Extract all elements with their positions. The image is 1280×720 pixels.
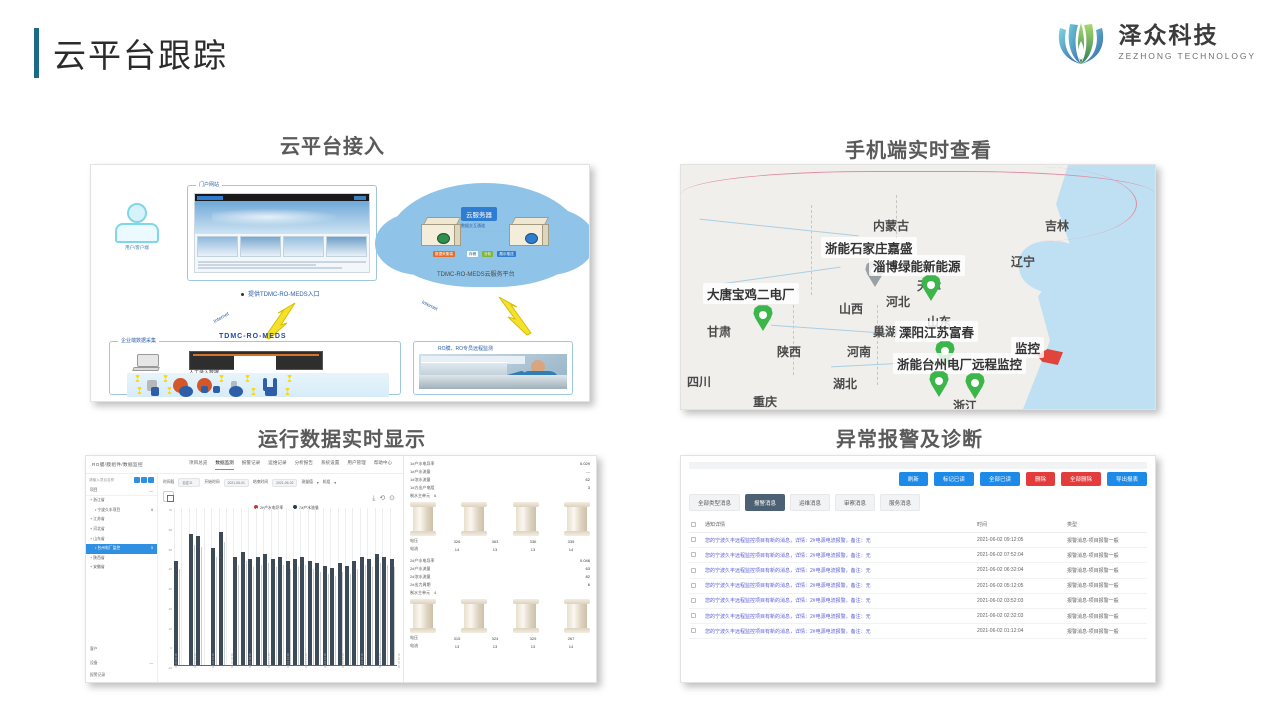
panel-title-cloud-access: 云平台接入 — [280, 130, 385, 159]
metric-values-row: 电流14131314 — [410, 546, 590, 552]
alarm-detail[interactable]: 您的宁波久丰远程监控项目有新的消息，详情：2#电源电流报警，备注：无 — [703, 578, 975, 593]
chart-data-spike — [330, 568, 334, 665]
chart-data-spike — [315, 563, 319, 665]
row-checkbox[interactable] — [689, 578, 703, 593]
alarm-type-tabs[interactable]: 全部类型消息报警消息运维消息审察消息服务消息 — [689, 494, 1147, 511]
dashboard-nav-item[interactable]: 帮助中心 — [374, 460, 392, 469]
chart-data-spike — [271, 559, 275, 665]
x-tick-label: 06-01 22:00 — [378, 653, 382, 668]
metric-cell: 13 — [476, 644, 514, 649]
row-checkbox[interactable] — [689, 624, 703, 639]
website-screenshot-box: 门户网站 — [187, 185, 377, 281]
membrane-spool-icon — [513, 599, 539, 633]
sidebar-foot-device[interactable]: 设备 — — [90, 661, 153, 666]
project-tree-label: • 台州电厂监控 — [95, 546, 120, 550]
dashboard-brand: RO膜/膜组件/数据监控 — [92, 462, 143, 468]
map-province-label: 内蒙古 — [873, 217, 909, 234]
filter-label: 测量值 — [301, 480, 312, 485]
chart-data-spike — [375, 554, 379, 665]
dashboard-nav-item[interactable]: 项目总览 — [189, 460, 207, 469]
portal-entry-text: 提供TDMC-RO-MEDS入口 — [248, 292, 320, 298]
filter-value[interactable]: 2021-06-02 — [272, 479, 297, 487]
tree-collapse-icon[interactable]: — — [149, 489, 153, 493]
unit-label: 制水主单元4 — [410, 590, 590, 596]
metric-key: 2#产水流量 — [410, 566, 430, 572]
sidebar-foot-alarm[interactable]: 报警记录 — [90, 673, 105, 678]
filter-value[interactable]: 自定义 — [178, 478, 200, 487]
metric-row: 2#产水电导率0.046 — [410, 558, 590, 564]
dashboard-nav[interactable]: 项目总览数据监测报警记录运维记录分析报告系统设置用户管理帮助中心 — [189, 460, 392, 470]
metric-values-label: 电压 — [410, 635, 438, 641]
x-tick-label: 06-01 20:00 — [360, 653, 364, 668]
chart-data-spike — [286, 561, 290, 665]
alarm-type: 报警消息-项目报警一般 — [1065, 624, 1147, 639]
alarm-time: 2021-06-02 02:32:03 — [975, 608, 1065, 623]
alarm-type: 报警消息-项目报警一般 — [1065, 533, 1147, 548]
map-pin-icon[interactable] — [929, 371, 949, 397]
membrane-spool-icon — [513, 502, 539, 536]
title-accent-bar — [34, 28, 39, 78]
project-tree-item[interactable]: + 河北省 — [86, 525, 157, 535]
tree-header: 项目 — — [86, 486, 157, 496]
alarm-type: 报警消息-项目报警一般 — [1065, 548, 1147, 563]
map-province-label: 四川 — [687, 373, 711, 390]
alarm-detail[interactable]: 您的宁波久丰远程监控项目有新的消息，详情：2#电源电流报警，备注：无 — [703, 563, 975, 578]
metric-row: 2#产水流量63 — [410, 566, 590, 572]
alarm-tab[interactable]: 运维消息 — [790, 494, 830, 511]
search-input[interactable]: 请输入项目名称 — [89, 478, 133, 483]
project-tree-item[interactable]: • 宁波久丰项目8 — [86, 506, 157, 516]
chart-data-spike — [278, 557, 282, 665]
realtime-dashboard: RO膜/膜组件/数据监控 项目总览数据监测报警记录运维记录分析报告系统设置用户管… — [85, 455, 597, 683]
metric-cell: 363 — [476, 539, 514, 544]
alarm-table: 通知详情时间类型 您的宁波久丰远程监控项目有新的消息，详情：2#电源电流报警，备… — [689, 517, 1147, 639]
map-province-label: 重庆 — [753, 393, 777, 409]
alarm-tab[interactable]: 审察消息 — [835, 494, 875, 511]
alarm-time: 2021-06-02 05:12:05 — [975, 578, 1065, 593]
chart-data-spike-light — [350, 574, 351, 665]
person-label: 用户/客户端 — [113, 245, 161, 251]
table-row[interactable]: 您的宁波久丰远程监控项目有新的消息，详情：2#电源电流报警，备注：无2021-0… — [689, 593, 1147, 608]
chart-data-spike-light — [387, 565, 388, 665]
x-tick-label: 06-01 14:00 — [304, 653, 308, 668]
metric-row: 1#产水电导率0.029 — [410, 461, 590, 467]
server-icon-left — [421, 217, 461, 247]
map-site-label[interactable]: 监控 — [1011, 337, 1044, 358]
filter-label: 开始时间 — [204, 480, 219, 485]
panel-title-realtime-data: 运行数据实时显示 — [258, 423, 426, 452]
alarm-type: 报警消息-项目报警一般 — [1065, 608, 1147, 623]
metric-cell: 315 — [438, 636, 476, 641]
map-site-label[interactable]: 淄博绿能新能源 — [869, 255, 965, 276]
chart-data-spike-light — [328, 574, 329, 665]
x-tick-label: 06-01 16:00 — [323, 653, 327, 668]
y-tick-label: 30 — [169, 587, 172, 591]
table-row[interactable]: 您的宁波久丰远程监控项目有新的消息，详情：2#电源电流报警，备注：无2021-0… — [689, 608, 1147, 623]
metric-cell: 267 — [552, 636, 590, 641]
chart-data-spike — [345, 566, 349, 665]
project-tree-item[interactable]: • 台州电厂监控5 — [86, 544, 157, 554]
website-screenshot — [194, 193, 370, 273]
metric-value: 63 — [586, 566, 590, 572]
chart-data-spike — [189, 534, 193, 665]
chart-data-spike-light — [253, 567, 254, 665]
map-province-label: 甘肃 — [707, 323, 731, 340]
metric-value: 0.029 — [580, 461, 590, 467]
cloud-link-label: 数据交互通道 — [461, 223, 485, 229]
filter-label: 机组 — [323, 480, 331, 485]
portal-entry-label: 提供TDMC-RO-MEDS入口 — [241, 289, 320, 298]
alarm-action-button[interactable]: 标记已读 — [934, 472, 974, 486]
alarm-action-buttons[interactable]: 刷新标记已读全部已读删除全部删除导出报表 — [689, 472, 1147, 486]
logo-company-name: 泽众科技 — [1119, 23, 1256, 48]
national-border-line-east — [947, 167, 1137, 241]
metrics-unit-1: 1#产水电导率0.0291#产水流量---1#浓水流量621#方出产电阻3制水主… — [410, 461, 590, 552]
title-text: 云平台跟踪 — [53, 29, 228, 77]
computer-icon — [133, 354, 161, 372]
dashboard-nav-item[interactable]: 分析报告 — [295, 460, 313, 469]
dashboard-main: 时间段自定义开始时间2021-06-01结束时间2021-06-02测量值▾机组… — [158, 474, 403, 682]
unit-number: 6 — [434, 493, 436, 498]
y-tick-label: 10 — [169, 627, 172, 631]
alarm-time: 2021-06-02 09:12:05 — [975, 533, 1065, 548]
project-search[interactable]: 请输入项目名称 — [86, 474, 157, 486]
metric-key: 1#产水流量 — [410, 469, 430, 475]
filter-label: 结束时间 — [253, 480, 268, 485]
project-tree-item[interactable]: + 江苏省 — [86, 515, 157, 525]
y-tick-label: 50 — [169, 548, 172, 552]
map-province-label: 巢湖 — [873, 323, 897, 340]
project-tree-item[interactable]: + 浙江省 — [86, 496, 157, 506]
chart-data-spike-light — [365, 565, 366, 665]
alarm-type: 报警消息-项目报警一般 — [1065, 563, 1147, 578]
select-all-checkbox[interactable] — [689, 517, 703, 533]
alarm-table-header: 通知详情时间类型 — [689, 517, 1147, 533]
membrane-spool-icon — [410, 502, 436, 536]
map-pin-icon[interactable] — [753, 305, 773, 331]
chart-data-spike — [174, 561, 178, 665]
row-checkbox[interactable] — [689, 548, 703, 563]
cloud-caption: TDMC-RO-MEDS云服务平台 — [437, 269, 515, 278]
metrics-column: 1#产水电导率0.0291#产水流量---1#浓水流量621#方出产电阻3制水主… — [404, 456, 596, 682]
metric-value: --- — [586, 469, 590, 475]
map-pin-icon[interactable] — [965, 373, 985, 399]
chart-data-spike-light — [320, 572, 321, 665]
metric-cell: 13 — [514, 547, 552, 552]
chart-data-spike-light — [261, 565, 262, 665]
map-site-label[interactable]: 大唐宝鸡二电厂 — [703, 283, 799, 304]
chart-data-spike-light — [298, 567, 299, 665]
y-tick-label: 60 — [169, 528, 172, 532]
map-province-label: 吉林 — [1045, 217, 1069, 234]
alarm-tab[interactable]: 报警消息 — [745, 494, 785, 511]
alarm-detail[interactable]: 您的宁波久丰远程监控项目有新的消息，详情：2#电源电流报警，备注：无 — [703, 608, 975, 623]
chart-data-spike-light — [290, 569, 291, 665]
chart-data-spike-light — [394, 567, 395, 665]
chart-data-spike — [338, 563, 342, 665]
project-tree-label: + 安徽省 — [90, 565, 105, 569]
internet-label-right: Internet — [421, 300, 439, 313]
chart-data-spike-light — [238, 565, 239, 665]
unit-label: 制水主单元6 — [410, 493, 590, 499]
alarm-detail[interactable]: 您的宁波久丰远程监控项目有新的消息，详情：2#电源电流报警，备注：无 — [703, 593, 975, 608]
alarm-time: 2021-06-02 03:52:03 — [975, 593, 1065, 608]
internet-label-left: Internet — [213, 311, 231, 325]
x-tick-label: 06-01 04:00 — [211, 653, 215, 668]
map-province-label: 河南 — [847, 343, 871, 360]
sidebar-foot-collapse-icon[interactable]: — — [149, 661, 153, 666]
chart-data-spike-light — [216, 557, 217, 665]
chart-data-spike-light — [380, 563, 381, 665]
row-checkbox[interactable] — [689, 533, 703, 548]
filter-value[interactable]: 2021-06-01 — [224, 479, 249, 487]
chart-toolbox-icons[interactable]: ⤓ ⟲ ⊙ — [372, 494, 396, 503]
metric-key: 2#浓水流量 — [410, 574, 430, 580]
metric-key: 1#方出产电阻 — [410, 485, 434, 491]
map-province-label: 湖北 — [833, 375, 857, 392]
chart-gridline — [226, 508, 227, 666]
metric-value: 82 — [586, 574, 590, 580]
project-tree-label: + 陕西省 — [90, 556, 105, 560]
chart-data-spike-light — [372, 567, 373, 665]
project-tree-count: 5 — [151, 546, 153, 550]
metric-cell: 329 — [514, 636, 552, 641]
alarm-detail[interactable]: 您的宁波久丰远程监控项目有新的消息，详情：2#电源电流报警，备注：无 — [703, 548, 975, 563]
chart-data-spike — [382, 557, 386, 665]
x-tick-label: 06-01 10:00 — [267, 653, 271, 668]
dashboard-nav-item[interactable]: 用户管理 — [347, 460, 365, 469]
metric-value: 6 — [588, 582, 590, 588]
control-room-caption: RO膜、RO专员远程监测 — [438, 345, 493, 352]
map-province-label: 山西 — [839, 300, 863, 317]
project-tree-item[interactable]: + 山东省 — [86, 534, 157, 544]
metric-value: 62 — [586, 477, 590, 483]
metric-values-row: 电流13131314 — [410, 643, 590, 649]
project-tree-item[interactable]: + 安徽省 — [86, 563, 157, 573]
alarm-time: 2021-06-02 07:52:04 — [975, 548, 1065, 563]
x-tick-label: 06-01 00:00 — [174, 653, 178, 668]
dashboard-nav-item[interactable]: 系统设置 — [321, 460, 339, 469]
project-tree-item[interactable]: + 陕西省 — [86, 554, 157, 564]
project-tree-label: • 宁波久丰项目 — [95, 508, 120, 512]
y-tick-label: -10 — [168, 666, 172, 670]
logo-company-name-en: ZEZHONG TECHNOLOGY — [1119, 51, 1256, 61]
unit-label-text: 制水主单元 — [410, 590, 430, 595]
x-tick-label: 06-01 08:00 — [248, 653, 252, 668]
membrane-spool-icon — [410, 599, 436, 633]
filter-label: 时间段 — [163, 480, 174, 485]
project-tree-count: 8 — [151, 508, 153, 512]
metric-values-label: 电流 — [410, 643, 438, 649]
filter-value[interactable]: ▾ — [334, 481, 336, 485]
metric-values-label: 电流 — [410, 546, 438, 552]
chart-data-spike-light — [246, 561, 247, 665]
mobile-map-view: 内蒙古吉林辽宁河北山西天津山东甘肃陕西河南巢湖湖北重庆四川浙江 浙能石家庄嘉盛淄… — [680, 164, 1156, 410]
chart-data-spike-light — [224, 542, 225, 665]
chart-data-spike-light — [194, 545, 195, 665]
chart-data-spike — [352, 561, 356, 665]
chart-gridline — [181, 508, 182, 666]
chart-y-axis: 706050403020100-10 — [160, 508, 173, 666]
expand-chart-button[interactable] — [163, 491, 174, 502]
metric-cell: 326 — [438, 539, 476, 544]
dashboard-nav-item[interactable]: 报警记录 — [242, 460, 260, 469]
metric-cell: 14 — [552, 547, 590, 552]
map-site-label[interactable]: 溧阳江苏富春 — [895, 321, 978, 342]
refresh-icon[interactable] — [148, 477, 154, 483]
project-tree-label: + 江苏省 — [90, 517, 105, 521]
metric-key: 1#浓水流量 — [410, 477, 430, 483]
x-tick-label: 06-01 12:00 — [286, 653, 290, 668]
chart-data-spike — [293, 559, 297, 665]
chart-data-spike — [390, 559, 394, 665]
alarm-action-button[interactable]: 刷新 — [899, 472, 928, 486]
chart-data-spike — [308, 561, 312, 665]
page-title: 云平台跟踪 — [34, 28, 228, 78]
metric-key: 1#产水电导率 — [410, 461, 434, 467]
alarm-action-button[interactable]: 全部已读 — [980, 472, 1020, 486]
website-box-caption: 门户网站 — [196, 181, 222, 188]
metric-row: 1#产水流量--- — [410, 469, 590, 475]
chart-data-spike — [196, 536, 200, 665]
membrane-spool-icon — [564, 599, 590, 633]
map-pin-icon[interactable] — [921, 275, 941, 301]
metric-cell: 13 — [438, 644, 476, 649]
alarm-tab[interactable]: 服务消息 — [880, 494, 920, 511]
row-checkbox[interactable] — [689, 563, 703, 578]
dashboard-sidebar: 请输入项目名称 项目 — + 浙江省• 宁波久丰项目8+ 江苏省+ 河北省+ 山… — [86, 474, 158, 682]
chart-gridline — [204, 508, 205, 666]
chart-data-spike-light — [305, 565, 306, 665]
chart-data-spike-light — [201, 547, 202, 665]
chart-data-spike-light — [276, 567, 277, 665]
alarm-column-header: 通知详情 — [703, 517, 975, 533]
chart-data-spike-light — [335, 576, 336, 665]
table-row[interactable]: 您的宁波久丰远程监控项目有新的消息，详情：2#电源电流报警，备注：无2021-0… — [689, 563, 1147, 578]
metric-row: 1#方出产电阻3 — [410, 485, 590, 491]
cloud-access-diagram: 用户/客户端 门户网站 提供TDMC-RO-MEDS入口 — [90, 164, 590, 402]
map-province-label: 辽宁 — [1011, 253, 1035, 270]
chart-data-spike — [300, 557, 304, 665]
filter-icon[interactable] — [141, 477, 147, 483]
metric-cell: 13 — [514, 644, 552, 649]
chart-data-spike — [323, 566, 327, 665]
chart-data-spike — [233, 557, 237, 665]
chart-data-spike-light — [313, 569, 314, 665]
cloud-legend: 数据采集端 存储 分析 展示推送 — [433, 251, 516, 257]
alarm-column-header: 类型 — [1065, 517, 1147, 533]
table-row[interactable]: 您的宁波久丰远程监控项目有新的消息，详情：2#电源电流报警，备注：无2021-0… — [689, 624, 1147, 639]
chart-data-spike — [360, 557, 364, 665]
alarm-tab[interactable]: 全部类型消息 — [689, 494, 740, 511]
project-tree-label: + 河北省 — [90, 527, 105, 531]
project-tree[interactable]: + 浙江省• 宁波久丰项目8+ 江苏省+ 河北省+ 山东省• 台州电厂监控5+ … — [86, 496, 157, 573]
alarm-topbar — [689, 462, 1147, 469]
x-tick-label: 06-02 00:00 — [397, 653, 401, 668]
plc-caption: 企业端数据采集 — [118, 337, 159, 344]
process-flow-diagram — [127, 373, 389, 397]
metric-value: 3 — [588, 485, 590, 491]
sidebar-foot-customer[interactable]: 客户 — [90, 647, 98, 652]
chart-data-spike-light — [268, 563, 269, 665]
chart-data-spike-light — [357, 569, 358, 665]
table-row[interactable]: 您的宁波久丰远程监控项目有新的消息，详情：2#电源电流报警，备注：无2021-0… — [689, 548, 1147, 563]
project-tree-label: + 浙江省 — [90, 498, 105, 502]
alarm-action-button[interactable]: 全部删除 — [1061, 472, 1101, 486]
membrane-spool-icon — [461, 502, 487, 536]
slide-root: 云平台跟踪 — [0, 0, 1280, 720]
sidebar-foot-device-label: 设备 — [90, 661, 98, 666]
metrics-unit-2: 2#产水电导率0.0462#产水流量632#浓水流量822#出力周期6制水主单元… — [410, 558, 590, 649]
metric-values-row: 电压315324329267 — [410, 635, 590, 641]
alarm-table-body[interactable]: 您的宁波久丰远程监控项目有新的消息，详情：2#电源电流报警，备注：无2021-0… — [689, 533, 1147, 639]
filter-value[interactable]: ▾ — [317, 481, 319, 485]
control-room-box: RO膜、RO专员远程监测 — [413, 341, 573, 395]
tree-header-label: 项目 — [90, 488, 98, 493]
metric-values-row: 电压326363336335 — [410, 538, 590, 544]
chart-data-spike — [263, 554, 267, 665]
table-row[interactable]: 您的宁波久丰远程监控项目有新的消息，详情：2#电源电流报警，备注：无2021-0… — [689, 578, 1147, 593]
alarm-time: 2021-06-02 06:32:04 — [975, 563, 1065, 578]
chart-data-spike — [241, 552, 245, 665]
dashboard-nav-item[interactable]: 数据监测 — [215, 460, 233, 470]
hmi-screen — [189, 351, 323, 370]
chart-data-spike — [211, 548, 215, 665]
unit-number: 4 — [434, 590, 436, 595]
y-tick-label: 0 — [170, 646, 172, 650]
metric-cell: 335 — [552, 539, 590, 544]
project-tree-label: + 山东省 — [90, 537, 105, 541]
metric-key: 2#产水电导率 — [410, 558, 434, 564]
metric-cell: 324 — [476, 636, 514, 641]
unit-label-text: 制水主单元 — [410, 493, 430, 498]
control-room-photo — [419, 354, 567, 389]
membrane-spool-icon — [564, 502, 590, 536]
cloud-title-badge: 云服务器 — [461, 207, 497, 221]
alarm-action-button[interactable]: 导出报表 — [1107, 472, 1147, 486]
search-icon[interactable] — [134, 477, 140, 483]
lotus-logo-icon — [1053, 14, 1109, 70]
map-site-label[interactable]: 浙能台州电厂远程监控 — [893, 353, 1026, 374]
alarm-action-button[interactable]: 删除 — [1026, 472, 1055, 486]
chart-filters[interactable]: 时间段自定义开始时间2021-06-01结束时间2021-06-02测量值▾机组… — [163, 478, 398, 487]
alarm-type: 报警消息-项目报警一般 — [1065, 593, 1147, 608]
alarm-time: 2021-06-02 01:12:04 — [975, 624, 1065, 639]
cloud-platform-graphic: 云服务器 数据交互通道 数据采集端 存储 分析 展示推送 TDMC-RO-MED… — [387, 183, 583, 287]
spool-row — [410, 599, 590, 633]
alarm-detail[interactable]: 您的宁波久丰远程监控项目有新的消息，详情：2#电源电流报警，备注：无 — [703, 624, 975, 639]
table-row[interactable]: 您的宁波久丰远程监控项目有新的消息，详情：2#电源电流报警，备注：无2021-0… — [689, 533, 1147, 548]
row-checkbox[interactable] — [689, 608, 703, 623]
plant-data-collection-box: 企业端数据采集 人工录入数据 — [109, 341, 401, 395]
metric-cell: 14 — [552, 644, 590, 649]
metric-values-label: 电压 — [410, 538, 438, 544]
metric-cell: 336 — [514, 539, 552, 544]
dashboard-nav-item[interactable]: 运维记录 — [268, 460, 286, 469]
metric-row: 2#出力周期6 — [410, 582, 590, 588]
metric-cell: 13 — [476, 547, 514, 552]
alarm-detail[interactable]: 您的宁波久丰远程监控项目有新的消息，详情：2#电源电流报警，备注：无 — [703, 533, 975, 548]
spool-row — [410, 502, 590, 536]
chart-data-spike — [367, 559, 371, 665]
row-checkbox[interactable] — [689, 593, 703, 608]
metric-value: 0.046 — [580, 558, 590, 564]
chart-data-spike — [219, 532, 223, 665]
x-tick-label: 06-01 06:00 — [230, 653, 234, 668]
x-tick-label: 06-01 02:00 — [193, 653, 197, 668]
chart-data-spike-light — [283, 565, 284, 665]
panel-title-mobile-view: 手机端实时查看 — [845, 134, 992, 163]
